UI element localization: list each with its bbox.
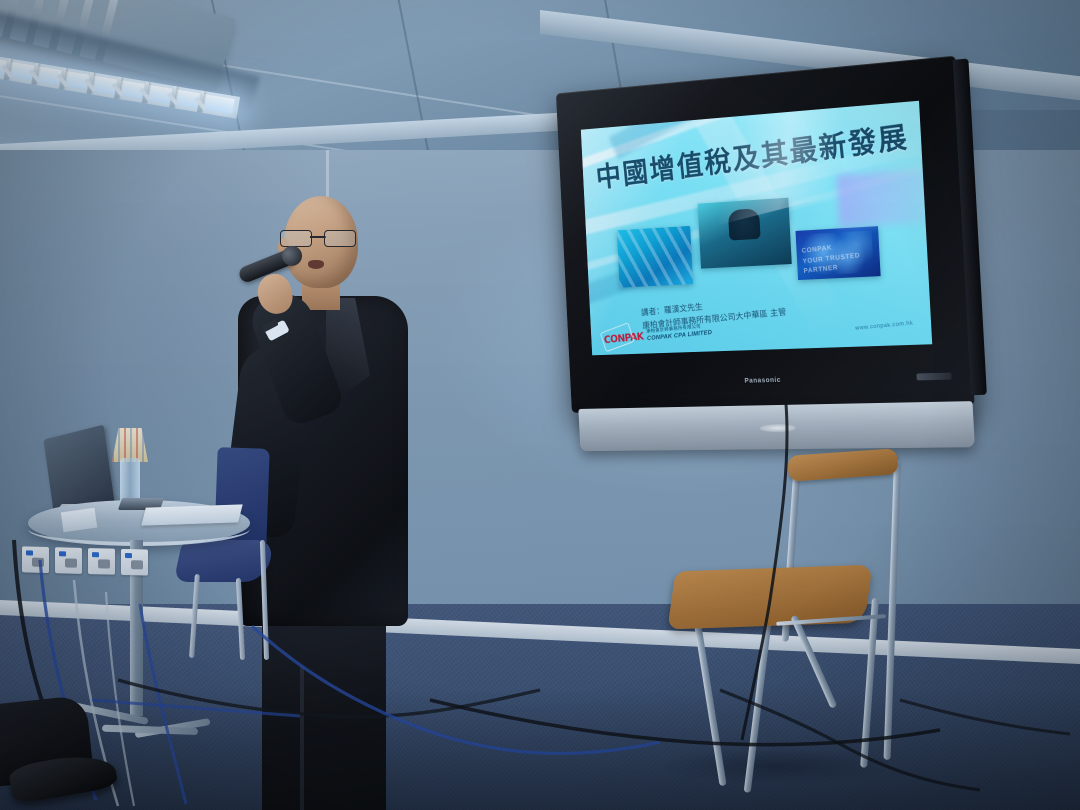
wall-socket[interactable]: [22, 546, 49, 573]
wall-socket[interactable]: [88, 548, 115, 575]
wall-socket[interactable]: [55, 547, 82, 574]
skyscraper-photo: [617, 225, 693, 287]
eyeglasses-icon: [280, 230, 356, 246]
presenter-leg-seam: [300, 666, 304, 810]
papers-stack: [141, 504, 242, 525]
wall-mounted-display[interactable]: 中國增值稅及其最新發展 CONPAK YOUR TRUSTED PARTNER …: [556, 56, 975, 413]
display-indicator: [916, 373, 951, 381]
display-screen: 中國增值稅及其最新發展 CONPAK YOUR TRUSTED PARTNER …: [581, 101, 932, 356]
bar-stool: [672, 448, 922, 793]
photo-scene: 中國增值稅及其最新發展 CONPAK YOUR TRUSTED PARTNER …: [0, 0, 1080, 810]
foreground-person-leg: [0, 700, 136, 810]
stool-frame: [884, 460, 901, 760]
wall-socket-panel[interactable]: [22, 546, 152, 583]
presentation-slide: 中國增值稅及其最新發展 CONPAK YOUR TRUSTED PARTNER …: [581, 101, 932, 356]
stool-leg: [860, 598, 879, 768]
presenter-mouth: [308, 260, 324, 269]
conpak-logo: CONPAK 康柏會計師事務所有限公司 CONPAK CPA LIMITED: [604, 324, 713, 346]
wall-socket[interactable]: [121, 549, 148, 576]
presenter-trousers: [262, 616, 386, 810]
stool-brace: [790, 615, 837, 709]
slide-url: www.conpak.com.hk: [854, 320, 913, 331]
stool-backrest: [787, 448, 899, 482]
logo-mark: CONPAK: [604, 331, 645, 347]
display-speaker-bar: [578, 401, 975, 451]
businessman-photo: [697, 197, 791, 268]
